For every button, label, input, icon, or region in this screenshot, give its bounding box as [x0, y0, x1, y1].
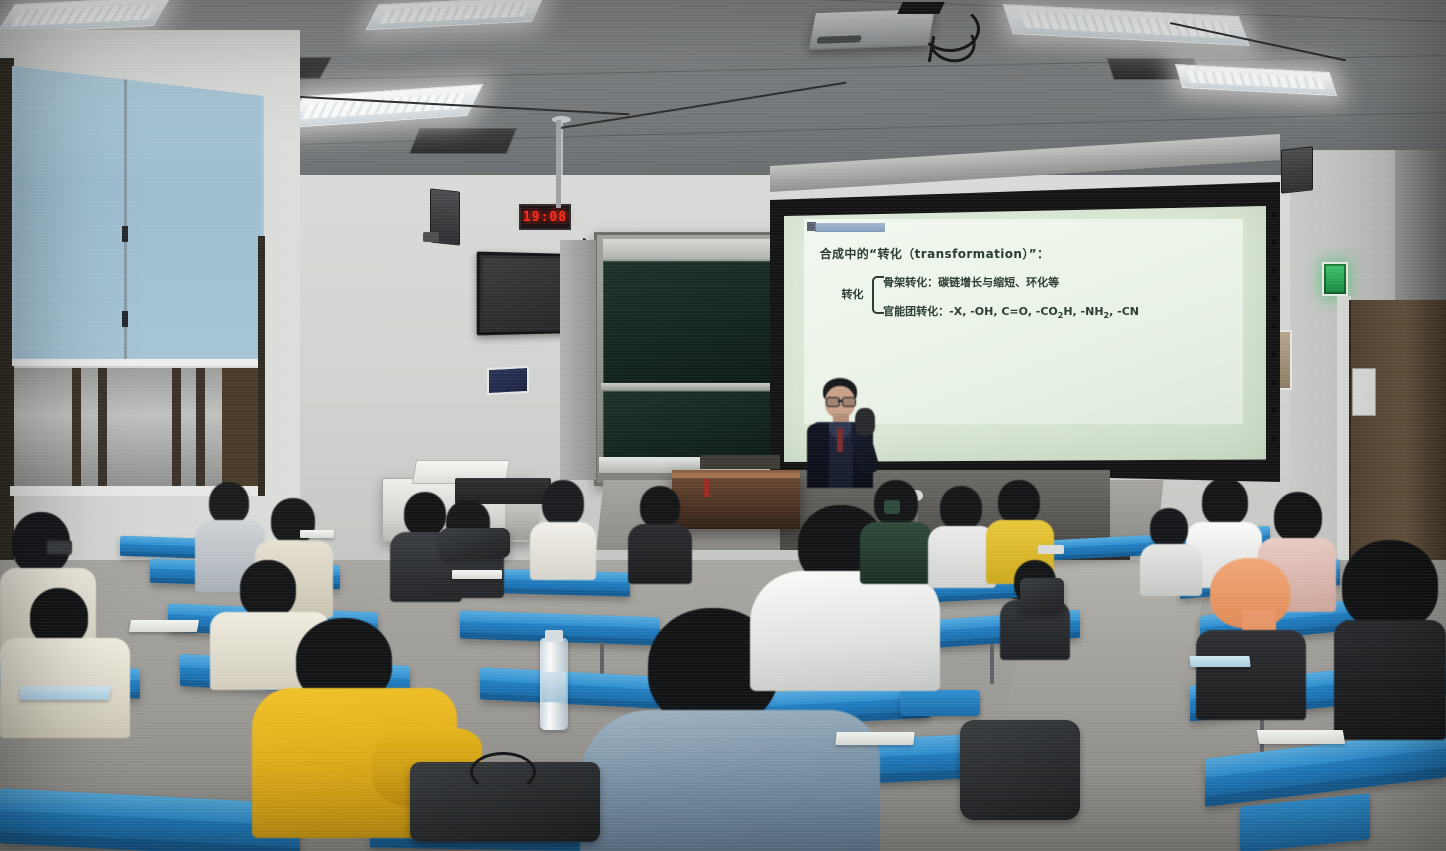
backpack-strap: [470, 752, 536, 792]
slide-func-b: H, -NH: [1063, 305, 1103, 318]
notebook-left: [19, 686, 111, 700]
student-head: [940, 486, 982, 530]
ceiling-cable: [560, 82, 847, 129]
student-torso: [1140, 544, 1202, 596]
slide-brace-label: 转化: [842, 286, 864, 302]
window-frame: [258, 236, 265, 496]
lectern-top-edge: [672, 473, 800, 478]
student-head: [1342, 540, 1438, 630]
lecturer-hand: [855, 408, 875, 436]
notebook-right: [1189, 656, 1250, 667]
blackboard-panel-upper: [603, 261, 787, 385]
student-far-left-front: [0, 588, 130, 738]
lecture-hall-photo: 19:08 合成中的“转化（transformation）”： 转化 骨架转化：…: [0, 0, 1446, 851]
screen-edge-dot: [1272, 212, 1277, 217]
student-center-back-1: [628, 486, 692, 582]
lecturer-glasses-right: [842, 397, 856, 407]
desk-leg: [990, 644, 994, 684]
lecturer-glasses-left: [826, 397, 840, 407]
ceiling-light-panel: [1002, 4, 1249, 46]
exit-sign: [1322, 262, 1348, 296]
student-head: [1202, 478, 1248, 526]
student-torso: [530, 522, 596, 580]
backpack-center: [960, 720, 1080, 820]
slide-title-text: 合成中的“转化（transformation）”：: [820, 245, 1050, 262]
lecturer-tie: [837, 428, 843, 452]
lectern-indicator: [704, 479, 709, 497]
clock-pole: [556, 120, 561, 208]
slide-func-a: 官能团转化：-X, -OH, C=O, -CO: [883, 305, 1058, 318]
speaker-bracket: [423, 232, 439, 242]
water-bottle: [540, 638, 568, 730]
blackboard-panel-lower: [603, 391, 787, 459]
screen-edge-dot: [1272, 296, 1277, 301]
book-back-left: [300, 530, 334, 538]
wall-panel-right: [1352, 368, 1376, 416]
exit-sign-glow: [1326, 266, 1344, 292]
student-head: [1274, 492, 1322, 542]
ceiling-projector: [808, 8, 936, 50]
student-torso: [1334, 620, 1446, 740]
window-blind-left: [12, 66, 264, 366]
slide-title-bar: [815, 223, 885, 232]
blackboard: [594, 232, 796, 486]
window-glass: [14, 368, 262, 486]
student-head: [1150, 508, 1188, 548]
student-head: [240, 560, 296, 618]
ceiling-light-panel: [366, 0, 545, 30]
student-torso-white: [750, 571, 940, 691]
student-head: [209, 482, 249, 524]
screen-edge-dot: [1272, 352, 1277, 357]
student-center-back-3: [860, 480, 932, 582]
wall-speaker-right: [1281, 146, 1313, 193]
student-head: [998, 480, 1040, 524]
screen-edge-dot: [1272, 380, 1277, 385]
projector-lens: [816, 35, 862, 44]
bottle-cap: [545, 630, 563, 642]
ceiling-vent: [409, 128, 518, 154]
blackboard-rail: [601, 383, 789, 390]
student-torso: [860, 522, 932, 584]
desk-paper-right: [1038, 545, 1064, 554]
led-clock-time: 19:08: [523, 210, 567, 225]
chair-mid-center: [900, 690, 980, 716]
student-torso: [628, 524, 692, 584]
ceiling-drop-disc: [552, 116, 571, 123]
bag-right: [1020, 578, 1064, 612]
ceiling-light-panel: [1175, 64, 1337, 96]
projector-mount: [897, 2, 945, 14]
blackboard-top-trim: [603, 239, 787, 259]
bottle-label: [542, 672, 566, 702]
student-right-back-3: [1140, 508, 1202, 596]
book-center: [835, 732, 914, 745]
student-head: [542, 480, 584, 526]
lectern-shelf: [700, 455, 780, 469]
window-frame: [0, 58, 14, 578]
screen-edge-dot: [1272, 408, 1277, 413]
student-right-front-dark: [1334, 540, 1446, 740]
slide-func-c: , -CN: [1109, 305, 1139, 318]
student-head: [640, 486, 680, 528]
lecturer: [795, 378, 885, 488]
book-center-left: [452, 570, 502, 579]
screen-edge-dot: [1272, 268, 1277, 273]
screen-edge-dot: [1272, 436, 1277, 441]
ceiling-light-panel: [0, 0, 172, 34]
screen-edge-dot: [1272, 240, 1277, 245]
student-torso: [1196, 630, 1306, 720]
book-right: [1257, 730, 1345, 744]
screen-edge-dot: [1272, 324, 1277, 329]
bag-on-desk: [440, 528, 510, 558]
student-glasses: [46, 540, 72, 555]
book-left: [129, 620, 199, 632]
board-side-wall: [560, 240, 596, 480]
student-torso-blue: [580, 710, 880, 851]
led-clock: 19:08: [519, 204, 571, 230]
wall-plaque: [487, 366, 529, 395]
lecturer-jacket-left: [807, 424, 829, 488]
slide-line-functional: 官能团转化：-X, -OH, C=O, -CO2H, -NH2, -CN: [883, 303, 1139, 320]
student-orange-ponytail: [1196, 558, 1306, 718]
desk-item-green: [884, 500, 900, 514]
lecturer-glasses-bridge: [838, 400, 842, 402]
student-center-back-2: [530, 480, 596, 580]
slide-line-skeleton: 骨架转化：碳链增长与缩短、环化等: [883, 274, 1059, 290]
